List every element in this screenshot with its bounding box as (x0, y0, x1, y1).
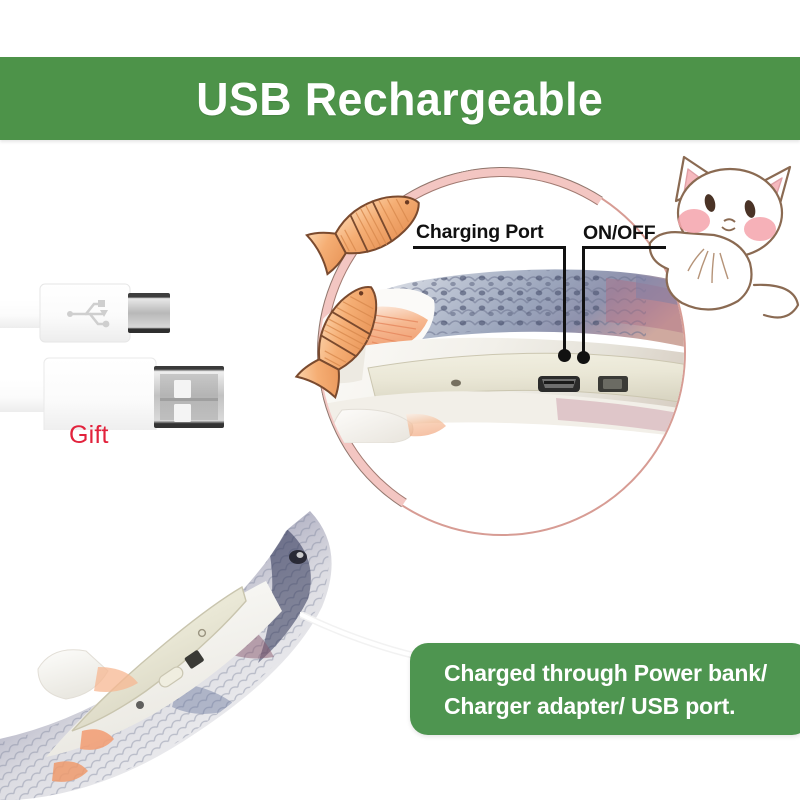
micro-usb-connector (0, 284, 170, 342)
power-switch (598, 376, 628, 392)
cartoon-fish-upper (307, 182, 426, 276)
infographic-page: USB Rechargeable (0, 0, 800, 800)
callout-charging-port-stem (563, 246, 566, 355)
info-line-1: Charged through Power bank/ (444, 657, 800, 690)
cartoon-fish-lower (296, 276, 390, 398)
cat-tail (754, 285, 798, 318)
callout-on-off-dot (577, 351, 590, 364)
callout-charging-port-label: Charging Port (416, 221, 543, 244)
gift-label: Gift (69, 421, 109, 450)
info-box: Charged through Power bank/ Charger adap… (410, 643, 800, 735)
info-line-2: Charger adapter/ USB port. (444, 690, 800, 723)
callout-on-off: ON/OFF (583, 222, 655, 245)
main-stage: Charging Port ON/OFF (0, 140, 800, 800)
micro-usb-port (538, 376, 580, 392)
cartoon-fish-group (286, 180, 426, 410)
cat-cheek-right (744, 217, 776, 241)
header-banner: USB Rechargeable (0, 57, 800, 140)
cat-cheek-left (678, 209, 710, 233)
callout-on-off-label: ON/OFF (583, 222, 655, 245)
panel-screw (451, 380, 461, 387)
usb-a-connector (0, 358, 224, 430)
usb-cable-group (0, 230, 276, 430)
callout-charging-port-dot (558, 349, 571, 362)
page-title: USB Rechargeable (196, 76, 603, 122)
bottom-indicator (136, 701, 144, 709)
callout-charging-port-bar (413, 246, 566, 249)
callout-on-off-bar (582, 246, 666, 249)
cat-illustration (638, 145, 800, 330)
callout-on-off-stem (582, 246, 585, 356)
callout-charging-port: Charging Port (416, 221, 543, 244)
